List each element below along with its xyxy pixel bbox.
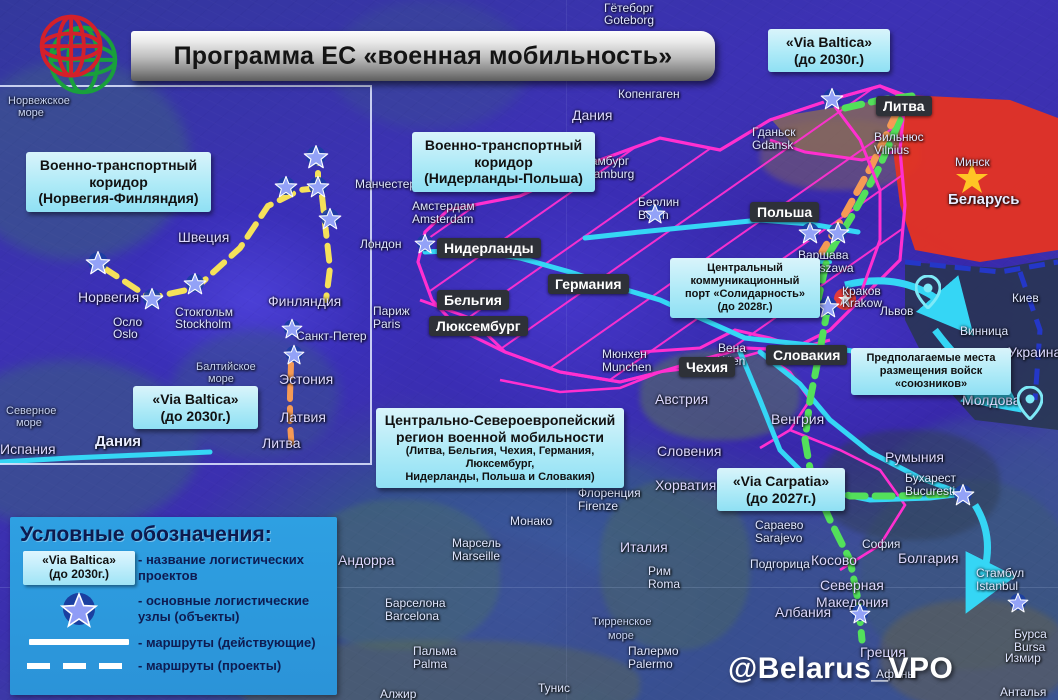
map-label: Испания <box>0 442 56 457</box>
map-label: Киев <box>1012 292 1039 305</box>
page-title: Программа ЕС «военная мобильность» <box>174 42 673 71</box>
solid-line-icon <box>29 639 129 645</box>
map-label: Amsterdam <box>412 213 473 226</box>
map-label: Вена <box>718 342 746 355</box>
callout-line: коридор <box>35 174 202 191</box>
callout-line: Нидерланды, Польша и Словакия) <box>382 471 618 484</box>
map-label: Рим <box>648 565 671 578</box>
map-label: Мюнхен <box>602 348 647 361</box>
map-label: Северная <box>820 578 884 593</box>
callout-netherlands-poland: Военно-транспортный коридор (Нидерланды-… <box>412 132 595 192</box>
map-label: Bucuresti <box>905 485 955 498</box>
logistics-hub-star-icon <box>826 220 850 249</box>
callout-central-north-europe: Центрально-Североевропейский регион воен… <box>376 408 624 488</box>
map-label: Sarajevo <box>755 532 802 545</box>
legend-item-label: - маршруты (действующие) <box>138 635 316 650</box>
callout-line: порт «Солидарность» <box>676 288 814 301</box>
map-label: Львов <box>880 305 913 318</box>
map-infographic: НорвежскоемореСеверноемореБалтийскоеморе… <box>0 0 1058 700</box>
map-label: Косово <box>811 553 857 568</box>
map-label: Измир <box>1005 652 1041 665</box>
callout-line: «Via Baltica» <box>777 34 881 51</box>
logistics-hub-star-icon <box>306 174 330 203</box>
callout-line: (до 2030г.) <box>777 51 881 68</box>
legend-item-label: - основные логистические узлы (объекты) <box>138 593 327 624</box>
map-label: Oslo <box>113 328 138 341</box>
map-label: Бурса <box>1014 628 1047 641</box>
legend-key-solid-line <box>20 639 138 645</box>
callout-allied-troops: Предполагаемые места размещения войск «с… <box>851 348 1011 395</box>
callout-line: регион военной мобильности <box>382 429 618 446</box>
map-label: море <box>18 108 44 120</box>
map-label: море <box>208 374 234 386</box>
map-label: Подгорица <box>750 558 810 571</box>
map-label: Palma <box>413 658 447 671</box>
map-label: Gdansk <box>752 139 793 152</box>
callout-via-baltica-inset: «Via Baltica» (до 2030г.) <box>133 386 258 429</box>
map-label: Goteborg <box>604 14 654 27</box>
logistics-hub-star-icon <box>849 602 871 629</box>
callout-line: «союзников» <box>857 378 1005 391</box>
map-label: Норвегия <box>78 290 139 305</box>
corridor-country-chip: Германия <box>548 274 629 294</box>
logistics-hub-star-icon <box>1007 591 1029 618</box>
map-label: Украина <box>1008 345 1058 360</box>
logistics-hub-star-icon <box>644 202 666 229</box>
map-label: Алжир <box>380 688 416 700</box>
map-label: Словения <box>657 444 721 459</box>
callout-line: Предполагаемые места <box>857 352 1005 365</box>
logistics-hub-star-icon <box>283 343 305 370</box>
legend-panel: Условные обозначения: «Via Baltica» (до … <box>10 517 337 695</box>
map-label: Париж <box>373 305 410 318</box>
corridor-country-chip: Люксембург <box>429 316 528 336</box>
allied-location-pin-1-icon <box>915 275 941 314</box>
callout-line: коммуникационный <box>676 275 814 288</box>
legend-title: Условные обозначения: <box>20 523 327 547</box>
legend-key-dashed-line <box>20 663 138 669</box>
map-label: море <box>16 418 42 430</box>
map-label: Андорра <box>338 553 394 568</box>
callout-line: Военно-транспортный <box>35 157 202 174</box>
logistics-hub-star-icon <box>951 482 975 511</box>
map-label: София <box>862 538 900 551</box>
map-label: Barcelona <box>385 610 439 623</box>
callout-via-carpatia: «Via Carpatia» (до 2027г.) <box>717 468 845 511</box>
callout-line: размещения войск <box>857 365 1005 378</box>
callout-line: (Литва, Бельгия, Чехия, Германия, Люксем… <box>382 445 618 471</box>
logistics-hub-star-icon <box>274 174 298 203</box>
map-label: Хорватия <box>655 478 716 493</box>
map-label: Дания <box>572 108 612 123</box>
callout-line: коридор <box>421 154 586 171</box>
map-label: Балтийское <box>196 362 256 374</box>
logistics-hub-star-icon <box>414 232 436 259</box>
map-label: Бухарест <box>905 472 956 485</box>
logistics-hub-star-icon <box>281 317 303 344</box>
map-label: Италия <box>620 540 668 555</box>
map-label: Paris <box>373 318 400 331</box>
map-label: Латвия <box>280 410 326 425</box>
map-label: Лондон <box>360 238 401 251</box>
legend-item-label: - маршруты (проекты) <box>138 658 281 673</box>
legend-key-star <box>20 589 138 629</box>
map-label: Палермо <box>628 645 679 658</box>
logistics-hub-star-icon <box>303 143 329 174</box>
legend-item-route-project: - маршруты (проекты) <box>20 658 327 673</box>
channel-watermark: @Belarus_VPO <box>728 652 953 686</box>
map-label: море <box>608 631 634 643</box>
legend-item-project-name: «Via Baltica» (до 2030г.) - название лог… <box>20 551 327 585</box>
map-label: Roma <box>648 578 680 591</box>
legend-key-chip: «Via Baltica» (до 2030г.) <box>20 551 138 585</box>
globe-icon <box>28 5 126 103</box>
map-label: Минск <box>955 156 990 169</box>
map-label: Стамбул <box>976 567 1024 580</box>
callout-line: (Норвегия-Финляндия) <box>35 190 202 207</box>
legend-item-route-operational: - маршруты (действующие) <box>20 635 327 650</box>
map-label: Молдова <box>962 393 1021 408</box>
map-label: Албания <box>775 605 831 620</box>
map-label: Palermo <box>628 658 673 671</box>
map-label: Stockholm <box>175 318 231 331</box>
legend-chip-line: «Via Baltica» <box>29 554 129 568</box>
corridor-country-chip: Польша <box>750 202 819 222</box>
map-label: Вильнюс <box>874 131 924 144</box>
map-label: Firenze <box>578 500 618 513</box>
callout-line: Центральный <box>676 262 814 275</box>
callout-line: «Via Baltica» <box>142 391 249 408</box>
map-label: Барселона <box>385 597 446 610</box>
logistics-hub-star-icon <box>798 220 822 249</box>
star-icon <box>59 589 99 629</box>
map-label: Анталья <box>1000 686 1046 699</box>
map-label: Венгрия <box>771 412 824 427</box>
page-title-bar: Программа ЕС «военная мобильность» <box>131 31 715 81</box>
map-label: Монако <box>510 515 552 528</box>
map-label: Санкт-Петер <box>296 330 367 343</box>
map-label: Марсель <box>452 537 501 550</box>
map-label: Амстердам <box>412 200 475 213</box>
map-label: Винница <box>960 325 1008 338</box>
legend-item-hub: - основные логистические узлы (объекты) <box>20 589 327 629</box>
callout-via-baltica-top: «Via Baltica» (до 2030г.) <box>768 29 890 72</box>
map-label: Пальма <box>413 645 456 658</box>
logistics-hub-star-icon <box>183 271 207 300</box>
graticule-line <box>566 0 567 700</box>
map-label: Vilnius <box>874 144 909 157</box>
corridor-country-chip: Литва <box>876 96 932 116</box>
map-label: Дания <box>95 434 141 450</box>
logistics-hub-star-icon <box>85 249 111 280</box>
map-label: Krakow <box>842 297 882 310</box>
logistics-hub-star-icon <box>140 286 164 315</box>
legend-item-label: - название логистических проектов <box>138 552 327 583</box>
logistics-hub-star-icon <box>820 86 844 115</box>
legend-chip-line: (до 2030г.) <box>29 568 129 582</box>
map-label: Беларусь <box>948 192 1020 208</box>
map-label: Румыния <box>885 450 944 465</box>
callout-norway-finland: Военно-транспортный коридор (Норвегия-Фи… <box>26 152 211 212</box>
corridor-country-chip: Бельгия <box>437 290 509 310</box>
map-label: Marseille <box>452 550 500 563</box>
map-label: Финляндия <box>268 294 341 309</box>
callout-line: (до 2028г.) <box>676 301 814 314</box>
logistics-hub-star-icon <box>318 206 342 235</box>
callout-line: Военно-транспортный <box>421 137 586 154</box>
callout-solidarity-port: Центральный коммуникационный порт «Солид… <box>670 258 820 318</box>
map-label: Болгария <box>898 551 959 566</box>
map-label: Эстония <box>279 372 333 387</box>
map-label: Манчестер <box>355 178 416 191</box>
map-label: Литва <box>262 436 301 451</box>
map-label: Северное <box>6 406 56 418</box>
corridor-country-chip: Словакия <box>766 345 847 365</box>
map-label: Швеция <box>178 230 229 245</box>
map-label: Тунис <box>538 682 570 695</box>
map-label: Копенгаген <box>618 88 680 101</box>
map-label: Флоренция <box>578 487 641 500</box>
callout-line: «Via Carpatia» <box>726 473 836 490</box>
callout-line: (Нидерланды-Польша) <box>421 170 586 187</box>
corridor-country-chip: Чехия <box>679 357 735 377</box>
callout-line: (до 2030г.) <box>142 408 249 425</box>
corridor-country-chip: Нидерланды <box>437 238 541 258</box>
map-label: Тирренское <box>592 617 651 629</box>
map-label: Гданьск <box>752 126 796 139</box>
callout-line: (до 2027г.) <box>726 490 836 507</box>
dashed-line-icon <box>27 663 131 669</box>
map-label: Munchen <box>602 361 651 374</box>
legend-chip-sample: «Via Baltica» (до 2030г.) <box>23 551 135 585</box>
map-label: Австрия <box>655 392 708 407</box>
allied-location-pin-2-icon <box>1017 386 1043 425</box>
map-label: Сараево <box>755 519 803 532</box>
callout-line: Центрально-Североевропейский <box>382 412 618 429</box>
